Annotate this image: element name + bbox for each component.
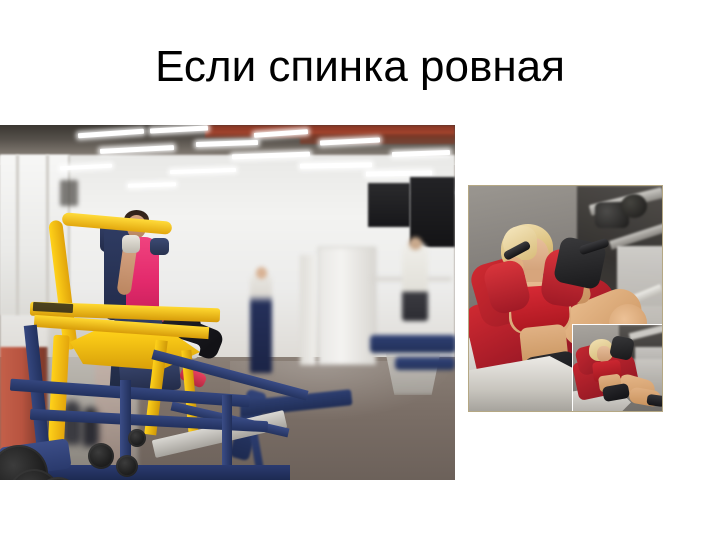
athlete-glove-right — [150, 238, 169, 255]
weight-plate — [88, 443, 114, 469]
weight-plate — [116, 455, 138, 477]
gym-interior-photo — [0, 125, 455, 480]
athlete-glove-left — [122, 235, 140, 253]
sub-inset-model-face — [597, 346, 611, 362]
page-title: Если спинка ровная — [0, 44, 720, 90]
ceiling-speaker-3 — [60, 180, 78, 206]
ab-crunch-photo — [468, 185, 663, 412]
person-head-center — [256, 267, 267, 279]
person-head-right — [409, 237, 422, 250]
window-mullion — [16, 155, 19, 315]
cable-machine-2 — [300, 255, 316, 365]
weight-plate — [128, 429, 146, 447]
person-standing-right — [402, 243, 428, 321]
slide-canvas: Если спинка ровная — [0, 0, 720, 540]
ceiling-speaker — [368, 183, 410, 227]
inset-dumbbell-2 — [621, 194, 647, 218]
bench-pad-right — [370, 335, 455, 353]
bench-pad-right-2 — [395, 357, 455, 370]
person-standing-center — [250, 273, 272, 373]
cable-machine — [318, 247, 376, 365]
ab-crunch-wide-photo — [572, 324, 663, 412]
window-mullion-2 — [46, 155, 49, 315]
